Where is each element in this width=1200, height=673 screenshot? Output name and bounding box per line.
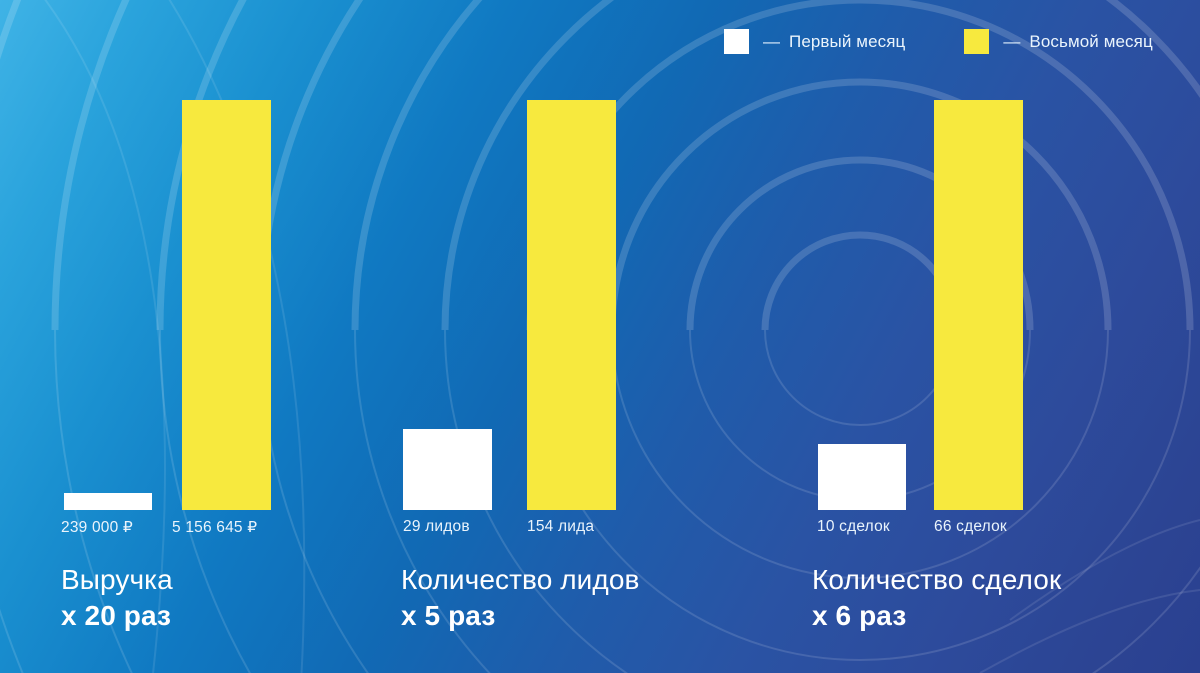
value-label-eighth-month-deals: 66 сделок xyxy=(934,518,1007,536)
value-label-first-month-deals: 10 сделок xyxy=(817,518,890,536)
chart-group-deals: 10 сделок 66 сделок Количество сделок x … xyxy=(0,0,1200,673)
chart-canvas: — Первый месяц — Восьмой месяц 239 000 ₽… xyxy=(0,0,1200,673)
bar-first-month-deals xyxy=(818,444,906,510)
caption-title-deals: Количество сделок xyxy=(812,563,1061,597)
bar-eighth-month-deals xyxy=(934,100,1023,510)
caption-deals: Количество сделок x 6 раз xyxy=(812,563,1061,633)
caption-multiplier-deals: x 6 раз xyxy=(812,599,1061,633)
